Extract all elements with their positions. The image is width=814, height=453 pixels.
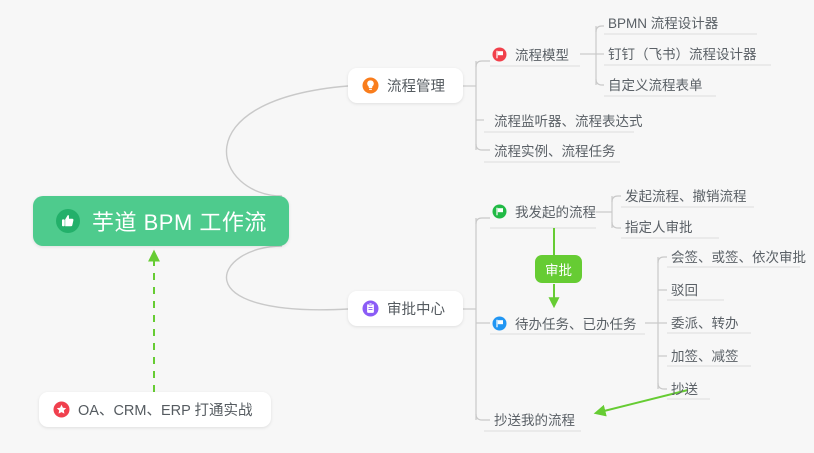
branch-label-process-management: 流程管理: [387, 75, 445, 96]
node-process-model[interactable]: 流程模型: [490, 41, 573, 67]
node-carbon-copy[interactable]: 抄送: [667, 375, 702, 401]
root-node[interactable]: 芋道 BPM 工作流: [33, 196, 289, 246]
node-process-instance-task[interactable]: 流程实例、流程任务: [490, 137, 620, 163]
node-label-process-instance-task: 流程实例、流程任务: [494, 140, 616, 160]
flag-icon: [492, 47, 507, 62]
node-label-bpmn-designer: BPMN 流程设计器: [608, 12, 718, 32]
root-node-label: 芋道 BPM 工作流: [92, 205, 267, 237]
node-label-my-initiated-process: 我发起的流程: [515, 201, 596, 221]
flow-badge-label: 审批: [545, 259, 572, 279]
connector-to-carbon-copy: [658, 383, 667, 389]
node-label-countersign-orsign-sequential: 会签、或签、依次审批: [671, 246, 806, 266]
node-custom-process-form[interactable]: 自定义流程表单: [604, 71, 707, 97]
node-label-process-listener-expression: 流程监听器、流程表达式: [494, 110, 643, 130]
node-process-listener-expression[interactable]: 流程监听器、流程表达式: [490, 107, 647, 133]
thumbs-up-icon: [55, 208, 81, 234]
node-label-cc-to-me-process: 抄送我的流程: [494, 409, 575, 429]
node-label-delegate-transfer: 委派、转办: [671, 312, 739, 332]
connector-root-to-process-management: [226, 86, 348, 196]
node-dingtalk-feishu-designer[interactable]: 钉钉（飞书）流程设计器: [604, 40, 761, 66]
node-label-add-remove-sign: 加签、减签: [671, 345, 739, 365]
node-delegate-transfer[interactable]: 委派、转办: [667, 309, 743, 335]
connector-to-process-instance: [476, 144, 490, 150]
clipboard-icon: [362, 300, 379, 317]
bottom-note-label: OA、CRM、ERP 打通实战: [78, 399, 253, 420]
node-label-custom-process-form: 自定义流程表单: [608, 74, 703, 94]
branch-label-approval-center: 审批中心: [387, 298, 445, 319]
star-icon: [53, 401, 70, 418]
node-bpmn-designer[interactable]: BPMN 流程设计器: [604, 9, 722, 35]
node-my-initiated-process[interactable]: 我发起的流程: [490, 198, 600, 224]
connector-to-countersign: [658, 257, 667, 263]
node-start-cancel-process[interactable]: 发起流程、撤销流程: [621, 182, 751, 208]
branch-node-approval-center[interactable]: 审批中心: [348, 291, 463, 326]
node-label-assignee-approval: 指定人审批: [625, 216, 693, 236]
flow-badge-approval[interactable]: 审批: [535, 255, 582, 283]
node-todo-done-task[interactable]: 待办任务、已办任务: [490, 310, 641, 336]
node-add-remove-sign[interactable]: 加签、减签: [667, 342, 743, 368]
node-label-dingtalk-feishu-designer: 钉钉（飞书）流程设计器: [608, 43, 757, 63]
lightbulb-pin-icon: [362, 77, 379, 94]
node-label-carbon-copy: 抄送: [671, 378, 698, 398]
node-label-reject: 驳回: [671, 279, 698, 299]
bottom-note-node[interactable]: OA、CRM、ERP 打通实战: [39, 392, 271, 427]
node-label-start-cancel-process: 发起流程、撤销流程: [625, 185, 747, 205]
node-cc-to-me-process[interactable]: 抄送我的流程: [490, 406, 579, 432]
node-assignee-approval[interactable]: 指定人审批: [621, 213, 697, 239]
flag-icon: [492, 316, 507, 331]
node-countersign-orsign-sequential[interactable]: 会签、或签、依次审批: [667, 243, 810, 269]
connector-to-cc-to-me: [476, 414, 490, 420]
connector-to-custom-form: [596, 79, 604, 85]
connector-to-my-initiated: [476, 218, 490, 224]
node-label-todo-done-task: 待办任务、已办任务: [515, 313, 637, 333]
connector-to-start-cancel: [612, 196, 621, 202]
connector-to-assignee-approval: [612, 222, 621, 228]
connector-to-process-model: [476, 61, 490, 67]
mindmap-canvas: 芋道 BPM 工作流 流程管理 流程模型 BPMN 流程设计器 钉钉（飞书）流程…: [0, 0, 814, 453]
node-reject[interactable]: 驳回: [667, 276, 702, 302]
connector-root-to-approval-center: [226, 246, 348, 310]
node-label-process-model: 流程模型: [515, 44, 569, 64]
branch-node-process-management[interactable]: 流程管理: [348, 68, 463, 103]
flag-icon: [492, 204, 507, 219]
connector-to-bpmn-designer: [596, 26, 604, 32]
